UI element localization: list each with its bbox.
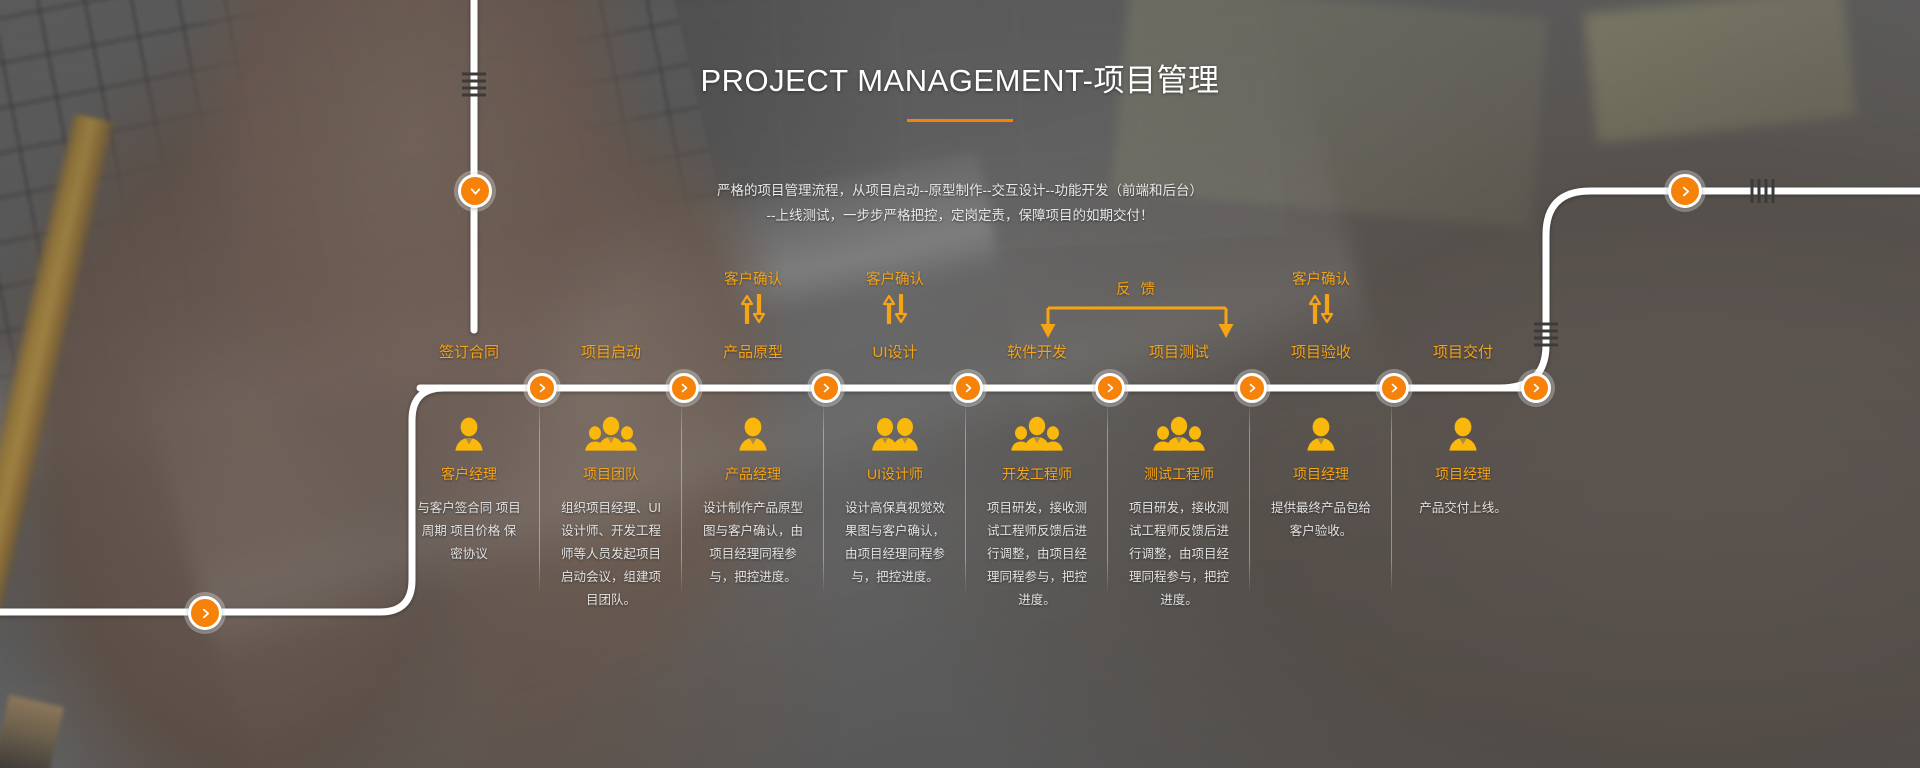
step-badge-area: 客户确认 — [1250, 268, 1392, 340]
step-badge: 客户确认 — [824, 268, 966, 289]
step-badge-area — [540, 268, 682, 340]
up-down-arrow-icon — [882, 294, 908, 324]
step-description: 提供最终产品包给客户验收。 — [1269, 497, 1373, 647]
step-node-slot — [540, 366, 682, 410]
step-badge-area: 客户确认 — [682, 268, 824, 340]
step-description: 设计制作产品原型图与客户确认，由项目经理同程参与，把控进度。 — [701, 497, 805, 647]
chevron-right-icon — [962, 382, 974, 394]
up-down-arrow-icon — [740, 294, 766, 324]
chevron-right-icon — [1104, 382, 1116, 394]
step-node-5[interactable] — [1095, 373, 1125, 403]
step-description-wrap: 设计制作产品原型图与客户确认，由项目经理同程参与，把控进度。 — [682, 497, 824, 647]
step-badge-area — [1108, 268, 1250, 340]
person-single-icon — [1392, 410, 1534, 458]
step-description-wrap: 产品交付上线。 — [1392, 497, 1534, 647]
step-badge-area — [398, 268, 540, 340]
step-description-wrap: 项目研发，接收测试工程师反馈后进行调整，由项目经理同程参与，把控进度。 — [966, 497, 1108, 647]
step-description-wrap: 组织项目经理、UI设计师、开发工程师等人员发起项目启动会议，组建项目团队。 — [540, 497, 682, 647]
step-description-wrap: 与客户签合同 项目周期 项目价格 保密协议 — [398, 497, 540, 647]
confirm-updown-arrows — [682, 294, 824, 324]
step-description: 组织项目经理、UI设计师、开发工程师等人员发起项目启动会议，组建项目团队。 — [559, 497, 663, 647]
step-node-slot — [1392, 366, 1534, 410]
step-role: UI设计师 — [824, 463, 966, 485]
project-steps: 签订合同 客户经理 与客户签合同 项目周期 项目价格 保密协议 项目启动 — [398, 268, 1534, 647]
step-item[interactable]: 项目启动 项目团队 组织项目经理、UI设计师、开发工程师等人员发起项目启动会议，… — [540, 268, 682, 647]
step-description-wrap: 设计高保真视觉效果图与客户确认，由项目经理同程参与，把控进度。 — [824, 497, 966, 647]
person-group-icon — [540, 410, 682, 458]
step-node-4[interactable] — [953, 373, 983, 403]
person-single-icon — [1250, 410, 1392, 458]
chevron-right-icon — [1246, 382, 1258, 394]
step-node-slot — [966, 366, 1108, 410]
step-badge: 客户确认 — [682, 268, 824, 289]
chevron-right-icon — [1530, 382, 1542, 394]
step-item[interactable]: 客户确认 项目验收 项目经理 提供最终产品包给客户验收。 — [1250, 268, 1392, 647]
step-item[interactable]: 客户确认 UI设计 UI设计师 设 — [824, 268, 966, 647]
step-name: UI设计 — [824, 340, 966, 366]
step-badge-area — [1392, 268, 1534, 340]
person-group-icon — [966, 410, 1108, 458]
step-node-6[interactable] — [1237, 373, 1267, 403]
step-name: 项目测试 — [1108, 340, 1250, 366]
step-description: 产品交付上线。 — [1411, 497, 1515, 647]
step-node-3[interactable] — [811, 373, 841, 403]
step-node-8[interactable] — [1521, 373, 1551, 403]
step-role: 项目经理 — [1250, 463, 1392, 485]
step-name: 软件开发 — [966, 340, 1108, 366]
step-badge-area — [966, 268, 1108, 340]
step-node-2[interactable] — [669, 373, 699, 403]
step-node-slot — [682, 366, 824, 410]
step-item[interactable]: 签订合同 客户经理 与客户签合同 项目周期 项目价格 保密协议 — [398, 268, 540, 647]
person-pair-icon — [824, 410, 966, 458]
page-subtitle: 严格的项目管理流程，从项目启动--原型制作--交互设计--功能开发（前端和后台）… — [610, 178, 1310, 228]
step-item[interactable]: 项目测试 测试工程师 项目研发，接收测试工程师反馈后进行调整，由项目经理同程参与… — [1108, 268, 1250, 647]
step-item[interactable]: 项目交付 项目经理 产品交付上线。 — [1392, 268, 1534, 647]
step-name: 项目交付 — [1392, 340, 1534, 366]
step-badge: 客户确认 — [1250, 268, 1392, 289]
step-description: 设计高保真视觉效果图与客户确认，由项目经理同程参与，把控进度。 — [843, 497, 947, 647]
step-role: 测试工程师 — [1108, 463, 1250, 485]
chevron-right-icon — [820, 382, 832, 394]
step-item[interactable]: 客户确认 产品原型 产品经理 设计制作产品原型图与客户确认，由项目经理同程参与，… — [682, 268, 824, 647]
title-underline — [907, 119, 1013, 122]
step-name: 产品原型 — [682, 340, 824, 366]
step-node-slot — [398, 366, 540, 410]
step-node-1[interactable] — [527, 373, 557, 403]
person-single-icon — [398, 410, 540, 458]
step-item[interactable]: 软件开发 开发工程师 项目研发，接收测试工程师反馈后进行调整，由项目经理同程参与… — [966, 268, 1108, 647]
step-node-7[interactable] — [1379, 373, 1409, 403]
step-role: 开发工程师 — [966, 463, 1108, 485]
step-node-slot — [1250, 366, 1392, 410]
confirm-updown-arrows — [1250, 294, 1392, 324]
confirm-updown-arrows — [824, 294, 966, 324]
subtitle-line-2: --上线测试，一步步严格把控，定岗定责，保障项目的如期交付！ — [610, 203, 1310, 228]
step-role: 客户经理 — [398, 463, 540, 485]
up-down-arrow-icon — [1308, 294, 1334, 324]
subtitle-line-1: 严格的项目管理流程，从项目启动--原型制作--交互设计--功能开发（前端和后台） — [610, 178, 1310, 203]
person-group-icon — [1108, 410, 1250, 458]
step-description-wrap: 提供最终产品包给客户验收。 — [1250, 497, 1392, 647]
step-role: 项目团队 — [540, 463, 682, 485]
step-name: 项目启动 — [540, 340, 682, 366]
person-single-icon — [682, 410, 824, 458]
step-description: 与客户签合同 项目周期 项目价格 保密协议 — [417, 497, 521, 647]
step-description: 项目研发，接收测试工程师反馈后进行调整，由项目经理同程参与，把控进度。 — [985, 497, 1089, 647]
page-title: PROJECT MANAGEMENT-项目管理 — [0, 55, 1920, 100]
step-name: 项目验收 — [1250, 340, 1392, 366]
step-description: 项目研发，接收测试工程师反馈后进行调整，由项目经理同程参与，把控进度。 — [1127, 497, 1231, 647]
chevron-right-icon — [678, 382, 690, 394]
step-name: 签订合同 — [398, 340, 540, 366]
chevron-right-icon — [536, 382, 548, 394]
step-role: 项目经理 — [1392, 463, 1534, 485]
step-node-slot — [824, 366, 966, 410]
step-role: 产品经理 — [682, 463, 824, 485]
step-badge-area: 客户确认 — [824, 268, 966, 340]
chevron-right-icon — [1388, 382, 1400, 394]
step-node-slot — [1108, 366, 1250, 410]
step-description-wrap: 项目研发，接收测试工程师反馈后进行调整，由项目经理同程参与，把控进度。 — [1108, 497, 1250, 647]
